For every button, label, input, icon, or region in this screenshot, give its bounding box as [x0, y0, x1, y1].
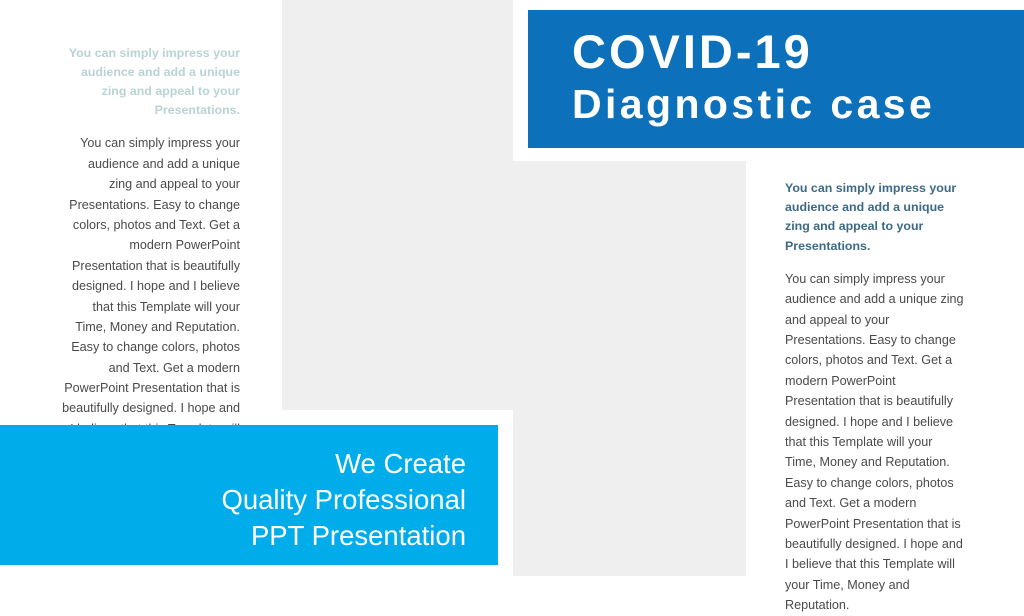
- right-text-column: You can simply impress your audience and…: [785, 179, 965, 616]
- banner-line-3: PPT Presentation: [0, 518, 466, 554]
- left-column-heading: You can simply impress your audience and…: [62, 44, 240, 119]
- bottom-cyan-banner: We Create Quality Professional PPT Prese…: [0, 425, 498, 565]
- title-banner: COVID-19 Diagnostic case: [528, 10, 1024, 148]
- banner-line-2: Quality Professional: [0, 482, 466, 518]
- left-text-column: You can simply impress your audience and…: [62, 44, 240, 480]
- right-column-heading: You can simply impress your audience and…: [785, 179, 965, 256]
- gray-panel-top-center: [282, 0, 513, 410]
- title-line-subtitle: Diagnostic case: [572, 79, 1024, 130]
- right-column-body: You can simply impress your audience and…: [785, 269, 965, 616]
- gray-panel-right: [513, 161, 746, 576]
- banner-line-1: We Create: [0, 446, 466, 482]
- title-line-covid: COVID-19: [572, 26, 1024, 79]
